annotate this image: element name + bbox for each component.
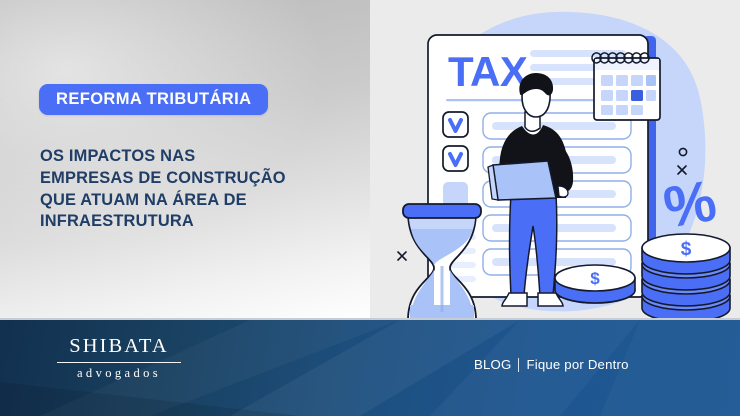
- calendar-icon: [592, 53, 660, 120]
- logo-tagline: advogados: [57, 367, 181, 380]
- tax-illustration: TAX: [370, 0, 740, 320]
- illustration-panel: TAX: [370, 0, 740, 320]
- form-title: TAX: [448, 48, 528, 95]
- percent-symbol: %: [659, 168, 721, 241]
- svg-text:%: %: [659, 168, 721, 241]
- banner-canvas: REFORMA TRIBUTÁRIA OS IMPACTOS NAS EMPRE…: [0, 0, 740, 416]
- category-badge: REFORMA TRIBUTÁRIA: [39, 84, 268, 115]
- left-text-panel: REFORMA TRIBUTÁRIA OS IMPACTOS NAS EMPRE…: [0, 0, 370, 320]
- company-logo: SHIBATA advogados: [57, 336, 181, 379]
- logo-divider-rule: [57, 362, 181, 363]
- coin-dollar-small: $: [590, 269, 600, 288]
- coin-stack-large: $: [642, 234, 730, 320]
- blog-label-group: BLOG Fique por Dentro: [474, 357, 629, 372]
- blog-section-label: Fique por Dentro: [526, 357, 628, 372]
- coin-dollar-large: $: [681, 239, 692, 260]
- blog-label: BLOG: [474, 357, 511, 372]
- blog-divider: [518, 358, 519, 372]
- logo-name: SHIBATA: [57, 336, 181, 357]
- headline-text: OS IMPACTOS NAS EMPRESAS DE CONSTRUÇÃO Q…: [40, 146, 340, 233]
- form-checkbox-2: [443, 146, 468, 171]
- coin-stack-small: $: [555, 265, 635, 303]
- form-checkbox-1: [443, 112, 468, 137]
